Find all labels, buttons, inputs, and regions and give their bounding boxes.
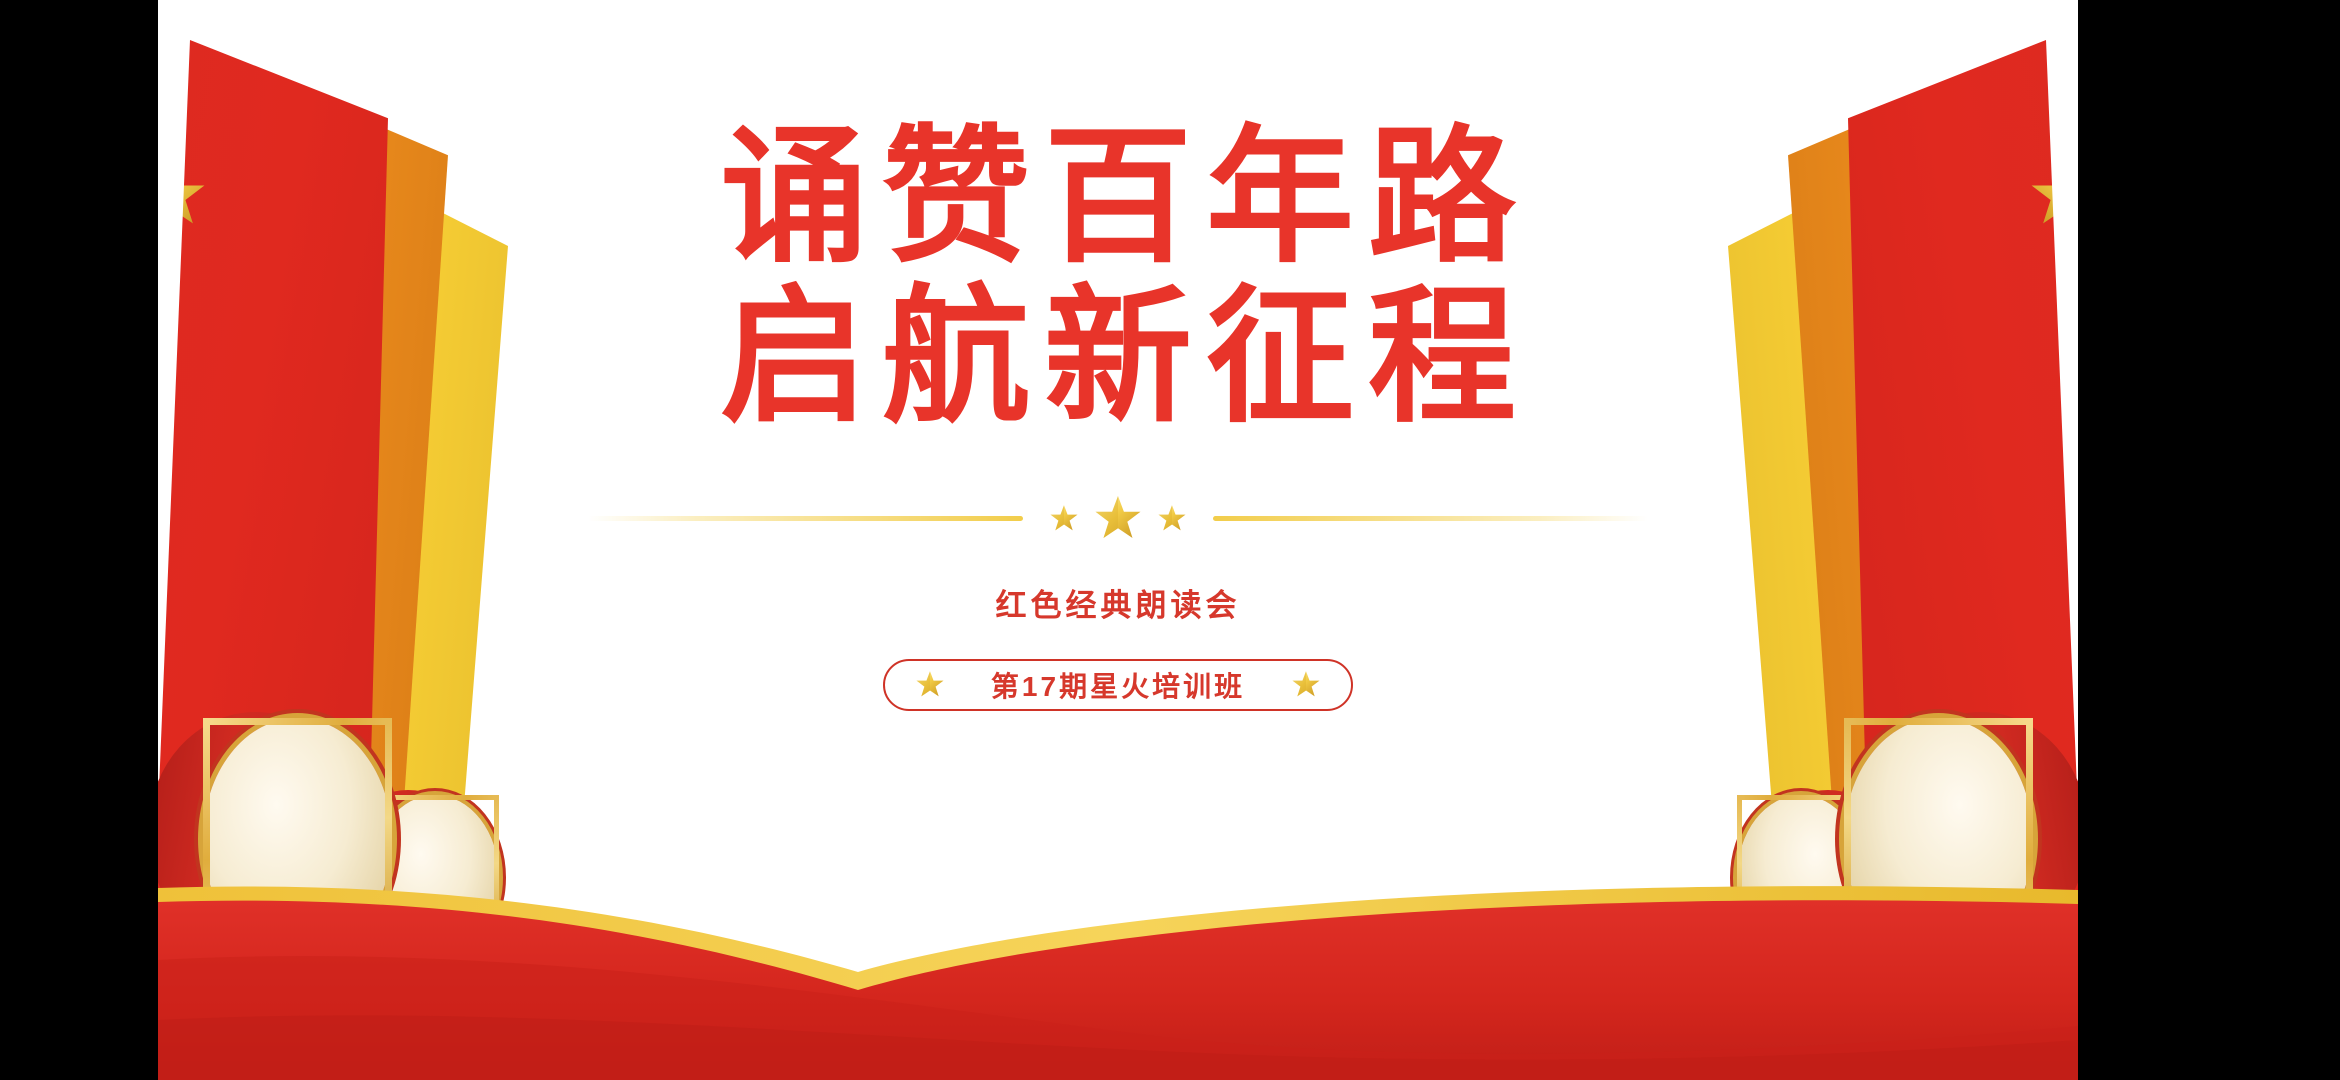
screen: 诵赞百年路 启航新征程 bbox=[0, 0, 2340, 1080]
star-icon bbox=[1157, 504, 1187, 534]
divider-star-group bbox=[1049, 494, 1187, 544]
slide-content: 诵赞百年路 启航新征程 bbox=[158, 0, 2078, 1080]
star-icon bbox=[915, 670, 945, 700]
status-badge: 第17期星火培训班 bbox=[883, 659, 1353, 711]
divider-rule-right bbox=[1213, 516, 1648, 521]
page-title: 诵赞百年路 启航新征程 bbox=[706, 118, 1530, 438]
title-line-1: 诵赞百年路 bbox=[706, 118, 1530, 278]
star-icon bbox=[1093, 494, 1143, 544]
star-icon bbox=[1049, 504, 1079, 534]
divider-rule-left bbox=[588, 516, 1023, 521]
subtitle: 红色经典朗读会 bbox=[996, 580, 1241, 625]
star-divider bbox=[588, 494, 1648, 544]
letterbox-right bbox=[2078, 0, 2340, 1080]
letterbox-left bbox=[0, 0, 158, 1080]
title-line-2: 启航新征程 bbox=[706, 278, 1530, 438]
presentation-slide: 诵赞百年路 启航新征程 bbox=[158, 0, 2078, 1080]
badge-label: 第17期星火培训班 bbox=[991, 665, 1245, 705]
star-icon bbox=[1291, 670, 1321, 700]
